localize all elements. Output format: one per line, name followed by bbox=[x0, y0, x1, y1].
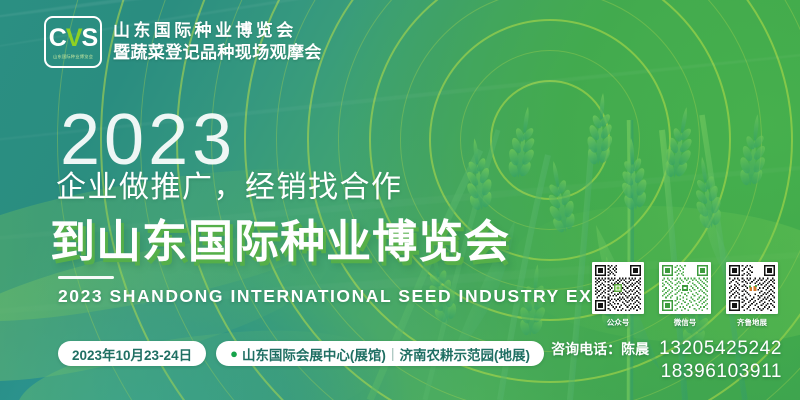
qr-caption: 公众号 bbox=[607, 317, 630, 328]
qr-code-icon bbox=[592, 262, 644, 314]
english-subtitle: 2023 SHANDONG INTERNATIONAL SEED INDUSTR… bbox=[58, 286, 621, 307]
contact-label: 咨询电话：陈晨 bbox=[551, 339, 649, 359]
logo-letter-c: C bbox=[49, 24, 66, 52]
qr-caption: 齐鲁地展 bbox=[737, 317, 767, 328]
qr-code-icon bbox=[726, 262, 778, 314]
cvs-logo-mark: CVS bbox=[49, 26, 97, 51]
qr-code-row: 公众号 bbox=[592, 262, 778, 328]
cvs-logo: CVS 山东国际种业博览会 bbox=[44, 16, 102, 68]
logo-letter-v: V bbox=[66, 24, 82, 52]
date-pill: 2023年10月23-24日 bbox=[58, 341, 206, 366]
tagline-text: 企业做推广，经销找合作 bbox=[56, 162, 403, 206]
logo-letter-s: S bbox=[82, 24, 98, 52]
qr-code-icon bbox=[659, 262, 711, 314]
event-poster: CVS 山东国际种业博览会 山东国际种业博览会 暨蔬菜登记品种现场观摩会 202… bbox=[0, 0, 800, 400]
header-text-block: 山东国际种业博览会 暨蔬菜登记品种现场观摩会 bbox=[113, 21, 322, 62]
venue-separator: | bbox=[391, 346, 395, 361]
qr-caption: 微信号 bbox=[674, 317, 697, 328]
header-title-line1: 山东国际种业博览会 bbox=[113, 21, 322, 41]
venue-part2: 济南农耕示范园(地展) bbox=[399, 344, 530, 364]
footer-info-pills: 2023年10月23-24日 ● 山东国际会展中心(展馆) | 济南农耕示范园(… bbox=[58, 341, 544, 366]
qr-item-2[interactable]: 齐鲁地展 bbox=[726, 262, 778, 328]
date-pill-label: 2023年10月23-24日 bbox=[72, 344, 192, 364]
location-pin-icon: ● bbox=[230, 347, 238, 360]
contact-line-1: 咨询电话：陈晨 13205425242 bbox=[551, 338, 782, 360]
contact-phone-2[interactable]: 18396103911 bbox=[551, 361, 782, 383]
qr-item-1[interactable]: 微信号 bbox=[659, 262, 711, 328]
qr-item-0[interactable]: 公众号 bbox=[592, 262, 644, 328]
venue-pill: ● 山东国际会展中心(展馆) | 济南农耕示范园(地展) bbox=[216, 341, 544, 366]
venue-part1: 山东国际会展中心(展馆) bbox=[242, 344, 386, 364]
poster-header: CVS 山东国际种业博览会 山东国际种业博览会 暨蔬菜登记品种现场观摩会 bbox=[44, 16, 322, 68]
contact-block: 咨询电话：陈晨 13205425242 18396103911 bbox=[551, 338, 782, 383]
main-headline: 到山东国际种业博览会 bbox=[50, 205, 510, 270]
divider-rule bbox=[58, 276, 114, 279]
logo-subtext: 山东国际种业博览会 bbox=[53, 54, 93, 60]
contact-phone-1[interactable]: 13205425242 bbox=[659, 338, 782, 360]
header-title-line2: 暨蔬菜登记品种现场观摩会 bbox=[113, 43, 322, 63]
